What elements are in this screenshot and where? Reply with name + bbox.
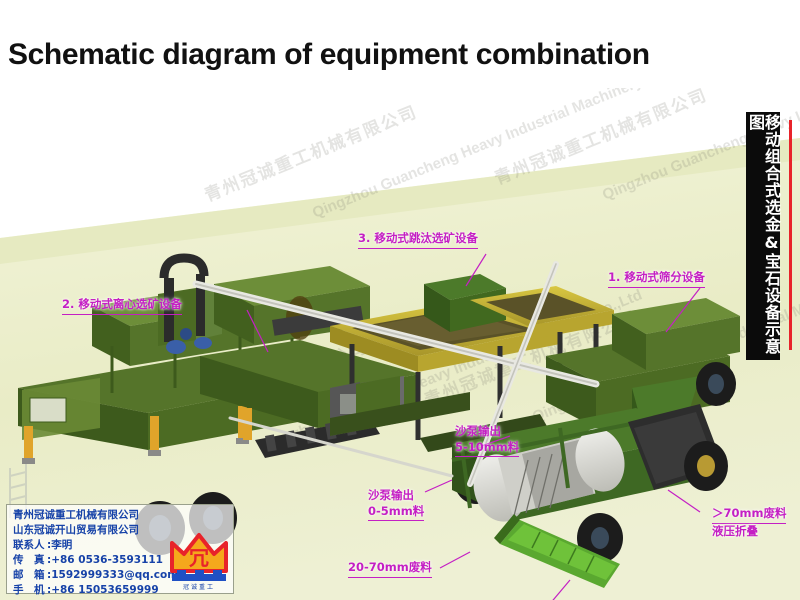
label-pump-output-0-5mm: 沙泵输出 0-5mm料 [368, 488, 424, 521]
crown-logo-icon: 冗 [168, 527, 230, 589]
page-title: Schematic diagram of equipment combinati… [8, 38, 650, 72]
company-name-line-1: 青州冠诚重工机械有限公司 [13, 508, 229, 523]
fax-key: 传 真 [13, 553, 47, 568]
logo-caption: 冠诚重工 [169, 582, 229, 591]
diagram-page: Schematic diagram of equipment combinati… [0, 0, 800, 600]
vertical-banner-text: 移动组合式选金&宝石设备示意图 [747, 114, 779, 358]
mobile-key: 手 机 [13, 583, 47, 598]
contact-person-key: 联系人 [13, 538, 47, 553]
label-screening-equipment: 1. 移动式筛分设备 [608, 270, 705, 288]
vertical-banner: 移动组合式选金&宝石设备示意图 [746, 112, 780, 360]
label-jig-equipment: 3. 移动式跳汰选矿设备 [358, 231, 478, 249]
fax-value: +86 0536-3593111 [51, 554, 163, 566]
label-waste-over-70mm: ＞70mm废料 液压折叠 [712, 506, 786, 539]
label-pump-output-5-10mm: 沙泵输出 5-10mm料 [455, 424, 519, 457]
email-key: 邮 箱 [13, 568, 47, 583]
contact-person-value: 李明 [51, 539, 72, 551]
label-centrifugal-equipment: 2. 移动式离心选矿设备 [62, 297, 182, 315]
label-waste-20-70mm: 20-70mm废料 [348, 560, 432, 578]
banner-red-rule [789, 120, 792, 350]
mobile-value: +86 15053659999 [51, 584, 158, 596]
svg-text:冗: 冗 [189, 546, 209, 570]
company-info-box: 青州冠诚重工机械有限公司 山东冠诚开山贸易有限公司 联系人:李明 传 真:+86… [6, 504, 234, 594]
email-value: 1592999333@qq.com [51, 569, 178, 581]
